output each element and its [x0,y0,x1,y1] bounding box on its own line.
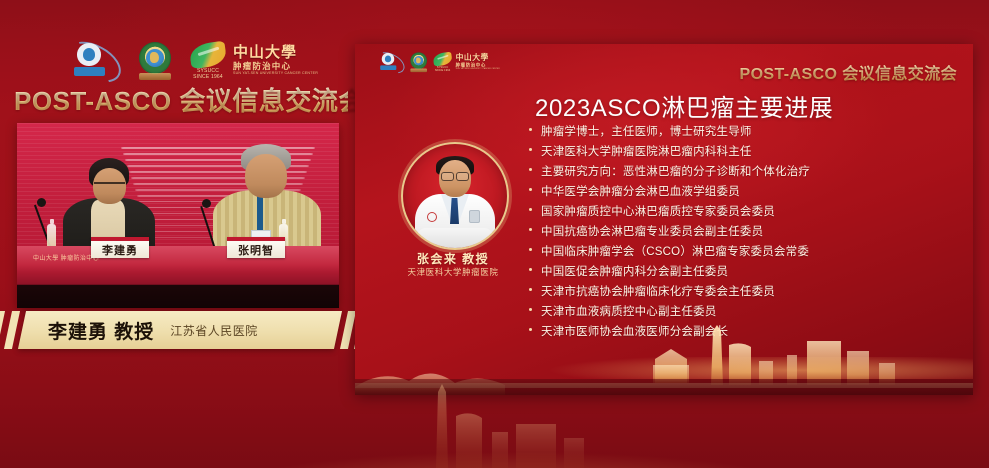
person-left-glasses [94,182,125,190]
slide-sysucc-name-en: SUN YAT-SEN UNIVERSITY CANCER CENTER [456,67,500,70]
credential-item: 天津市血液病质控中心副主任委员 [529,302,949,322]
caption-text-group: 李建勇 教授 江苏省人民医院 [22,311,338,349]
slide-event-title: POST-ASCO 会议信息交流会 [740,60,958,84]
credential-item: 国家肿瘤质控中心淋巴瘤质控专家委员会委员 [529,202,949,222]
credential-text: 中国临床肿瘤学会（CSCO）淋巴瘤专家委员会常委 [541,242,809,262]
credential-text: 天津市血液病质控中心副主任委员 [541,302,717,322]
bullet-dot-icon [529,268,532,271]
conference-video-tile[interactable]: 中山大學 肿瘤防治中心 李建勇 张明智 [17,123,339,308]
bullet-dot-icon [529,288,532,291]
desk-nameplate-left: 李建勇 [91,237,149,258]
credential-item: 肿瘤学博士，主任医师，博士研究生导师 [529,122,949,142]
portrait-folded-arms [417,228,493,246]
bullet-dot-icon [529,328,532,331]
organizer-logo-row: SYSUCC SINCE 1964 中山大學 肿瘤防治中心 SUN YAT-SE… [64,38,284,82]
slide-sysucc-flame-icon: SYSUCC SINCE 1964 [432,51,453,72]
credential-item: 中国抗癌协会淋巴瘤专业委员会副主任委员 [529,222,949,242]
credential-item: 主要研究方向：恶性淋巴瘤的分子诊断和个体化治疗 [529,162,949,182]
credential-text: 肿瘤学博士，主任医师，博士研究生导师 [541,122,752,142]
caption-speaker-org: 江苏省人民医院 [170,322,258,339]
desk-front-logo: 中山大學 肿瘤防治中心 [33,253,99,262]
credential-item: 中国临床肿瘤学会（CSCO）淋巴瘤专家委员会常委 [529,242,949,262]
bullet-dot-icon [529,188,532,191]
csco-leaf-mark [77,43,101,66]
slide-sysucc-mark-text: SYSUCC SINCE 1964 [433,66,453,72]
speaker-caption-bar: 李建勇 教授 江苏省人民医院 [22,311,338,349]
slide-heading: 2023ASCO淋巴瘤主要进展 [535,88,833,123]
credential-item: 天津市医师协会血液医师分会副会长 [529,322,949,342]
credential-text: 中国医促会肿瘤内科分会副主任委员 [541,262,728,282]
conference-broadcast-screen: SYSUCC SINCE 1964 中山大學 肿瘤防治中心 SUN YAT-SE… [0,0,989,468]
caption-accent-left-inner [4,311,20,349]
bullet-dot-icon [529,308,532,311]
credential-item: 天津医科大学肿瘤医院淋巴瘤内科科主任 [529,142,949,162]
bullet-dot-icon [529,228,532,231]
person-right-head [245,154,287,198]
mic-head-left [37,198,46,207]
credential-item: 天津市抗癌协会肿瘤临床化疗专委会主任委员 [529,282,949,302]
sysucc-flame-shape [189,41,228,70]
slide-medical-association-emblem [409,51,429,72]
credential-item: 中国医促会肿瘤内科分会副主任委员 [529,262,949,282]
bullet-dot-icon [529,168,532,171]
sysucc-name-cn: 中山大學 [233,45,318,61]
sysucc-sub-cn: 肿瘤防治中心 [233,61,318,71]
slide-csco-leaf-mark [382,53,394,65]
slide-sysucc-logo: SYSUCC SINCE 1964 中山大學 肿瘤防治中心 SUN YAT-SE… [432,51,494,72]
credential-item: 中华医学会肿瘤分会淋巴血液学组委员 [529,182,949,202]
sysucc-flame-icon: SYSUCC SINCE 1964 [188,40,228,80]
slide-logo-row: SYSUCC SINCE 1964 中山大學 肿瘤防治中心 SUN YAT-SE… [375,56,495,67]
credential-text: 中国抗癌协会淋巴瘤专业委员会副主任委员 [541,222,763,242]
slide-sysucc-name-cn: 中山大學 [456,54,500,62]
presentation-slide[interactable]: SYSUCC SINCE 1964 中山大學 肿瘤防治中心 SUN YAT-SE… [355,44,973,395]
slide-horizon-glow [355,357,973,379]
event-title-en: POST-ASCO [14,86,179,116]
desk-nameplate-right: 张明智 [227,237,285,258]
credential-text: 天津市医师协会血液医师分会副会长 [541,322,728,342]
event-title: POST-ASCO 会议信息交流会 [14,86,348,116]
sysucc-wordmark: 中山大學 肿瘤防治中心 SUN YAT-SEN UNIVERSITY CANCE… [233,45,318,76]
speaker-credentials-list: 肿瘤学博士，主任医师，博士研究生导师天津医科大学肿瘤医院淋巴瘤内科科主任主要研究… [529,122,949,342]
bullet-dot-icon [529,148,532,151]
slide-emblem-globe-icon [414,56,423,65]
credential-text: 天津医科大学肿瘤医院淋巴瘤内科科主任 [541,142,752,162]
emblem-globe-icon [146,49,164,67]
slide-csco-logo [375,51,405,72]
conference-desk: 中山大學 肿瘤防治中心 [17,246,339,308]
mic-head-right [202,199,211,208]
bullet-dot-icon [529,248,532,251]
portrait-badge-icon [469,210,480,223]
credential-text: 国家肿瘤质控中心淋巴瘤质控专家委员会委员 [541,202,775,222]
slide-emblem-caption-block [410,68,427,72]
portrait-coat-emblem-icon [427,212,437,222]
event-title-cn: 会议信息交流会 [179,86,365,116]
sysucc-logo: SYSUCC SINCE 1964 中山大學 肿瘤防治中心 SUN YAT-SE… [188,40,308,80]
slide-sysucc-flame-shape [432,52,452,67]
medical-association-emblem [136,40,174,80]
sysucc-mark-text: SYSUCC SINCE 1964 [189,68,227,79]
slide-speaker-org: 天津医科大学肿瘤医院 [355,266,551,278]
slide-footer-strip [355,379,973,395]
credential-text: 主要研究方向：恶性淋巴瘤的分子诊断和个体化治疗 [541,162,810,182]
slide-event-title-en: POST-ASCO [740,66,843,83]
bullet-dot-icon [529,208,532,211]
slide-event-title-cn: 会议信息交流会 [842,66,957,83]
credential-text: 中华医学会肿瘤分会淋巴血液学组委员 [541,182,740,202]
slide-speaker-name: 张会来 教授 [355,250,551,267]
left-panel: SYSUCC SINCE 1964 中山大學 肿瘤防治中心 SUN YAT-SE… [0,0,355,468]
csco-logo [64,40,122,80]
portrait-glasses-icon [441,172,469,179]
caption-accent-right-inner [340,311,356,349]
caption-speaker-name: 李建勇 教授 [48,317,154,344]
slide-sysucc-wordmark: 中山大學 肿瘤防治中心 SUN YAT-SEN UNIVERSITY CANCE… [456,54,500,70]
sysucc-name-en: SUN YAT-SEN UNIVERSITY CANCER CENTER [233,71,318,76]
speaker-portrait [401,142,509,250]
credential-text: 天津市抗癌协会肿瘤临床化疗专委会主任委员 [541,282,775,302]
emblem-caption-block [139,73,171,80]
bullet-dot-icon [529,128,532,131]
csco-wordmark-bar [74,67,105,76]
slide-csco-wordmark-bar [380,65,396,70]
